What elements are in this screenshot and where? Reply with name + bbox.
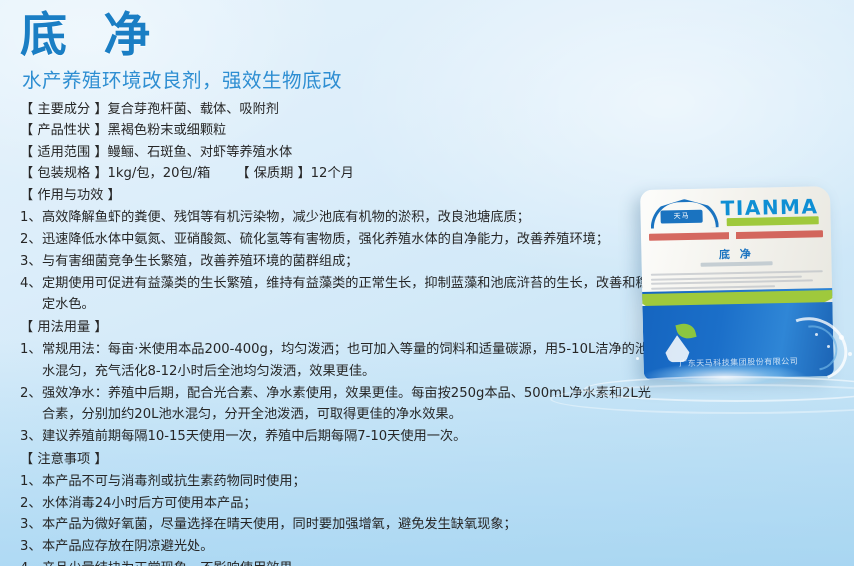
page-title: 底 净: [20, 12, 660, 60]
product-bag: 天马 TIANMA 底 净 广东天马科技集团股份有限公司: [640, 186, 834, 380]
item-number: 3、: [20, 426, 42, 448]
item-text: 常规用法：每亩·米使用本品200-400g，均匀泼洒；也可加入等量的饲料和适量碳…: [42, 342, 648, 379]
cautions-heading: 【 注意事项 】: [20, 449, 660, 470]
effects-heading: 【 作用与功效 】: [20, 185, 660, 206]
caution-item: 3、本产品为微好氧菌，尽量选择在晴天使用，同时要加强增氧，避免发生缺氧现象；: [20, 514, 660, 536]
item-text: 本产品应存放在阴凉避光处。: [42, 539, 213, 554]
item-number: 1、: [20, 471, 42, 493]
caution-item: 3、本产品应存放在阴凉避光处。: [20, 536, 660, 558]
item-number: 1、: [20, 339, 42, 361]
spec-value-shelf-life: 12个月: [311, 166, 354, 181]
spec-row: 【 适用范围 】鳗鲡、石斑鱼、对虾等养殖水体: [20, 142, 660, 163]
product-package-image: 天马 TIANMA 底 净 广东天马科技集团股份有限公司: [620, 188, 854, 428]
product-info-page: 底 净 水产养殖环境改良剂，强效生物底改 【 主要成分 】复合芽孢杆菌、载体、吸…: [0, 0, 854, 566]
usage-item: 2、强效净水：养殖中后期，配合光合素、净水素使用，效果更佳。每亩按250g本品、…: [20, 383, 660, 427]
effects-section: 【 作用与功效 】 1、高效降解鱼虾的粪便、残饵等有机污染物，减少池底有机物的淤…: [14, 185, 660, 316]
spec-label-shelf-life: 【 保质期 】: [236, 166, 310, 181]
effects-item: 1、高效降解鱼虾的粪便、残饵等有机污染物，减少池底有机物的淤积，改良池塘底质；: [20, 207, 660, 229]
item-text: 本产品不可与消毒剂或抗生素药物同时使用；: [42, 474, 306, 489]
spec-value: 鳗鲡、石斑鱼、对虾等养殖水体: [108, 145, 293, 160]
item-number: 3、: [20, 251, 42, 273]
usage-section: 【 用法用量 】 1、常规用法：每亩·米使用本品200-400g，均匀泼洒；也可…: [14, 317, 660, 448]
spec-label: 【 主要成分 】: [20, 102, 108, 117]
spec-value: 复合芽孢杆菌、载体、吸附剂: [108, 102, 279, 117]
spec-row: 【 主要成分 】复合芽孢杆菌、载体、吸附剂: [20, 99, 660, 120]
spec-label: 【 包装规格 】: [20, 166, 108, 181]
caution-item: 2、水体消毒24小时后方可使用本产品；: [20, 493, 660, 515]
item-text: 与有害细菌竞争生长繁殖，改善养殖环境的菌群组成；: [42, 254, 359, 269]
usage-heading: 【 用法用量 】: [20, 317, 660, 338]
spec-value: 1kg/包，20包/箱: [108, 166, 211, 181]
item-text: 迅速降低水体中氨氮、亚硝酸氮、硫化氢等有害物质，强化养殖水体的自净能力，改善养殖…: [42, 232, 609, 247]
item-text: 定期使用可促进有益藻类的生长繁殖，维持有益藻类的正常生长，抑制蓝藻和池底浒苔的生…: [42, 276, 649, 313]
brand-underline-decoration: [727, 216, 819, 226]
item-text: 强效净水：养殖中后期，配合光合素、净水素使用，效果更佳。每亩按250g本品、50…: [42, 386, 651, 423]
item-number: 4、: [20, 558, 42, 566]
effects-item: 3、与有害细菌竞争生长繁殖，改善养殖环境的菌群组成；: [20, 251, 660, 273]
page-subtitle: 水产养殖环境改良剂，强效生物底改: [22, 64, 660, 93]
item-number: 3、: [20, 514, 42, 536]
spec-label: 【 适用范围 】: [20, 145, 108, 160]
caution-item: 1、本产品不可与消毒剂或抗生素药物同时使用；: [20, 471, 660, 493]
item-number: 3、: [20, 536, 42, 558]
tianma-house-logo-icon: 天马: [650, 199, 713, 228]
item-text: 高效降解鱼虾的粪便、残饵等有机污染物，减少池底有机物的淤积，改良池塘底质；: [42, 210, 530, 225]
item-text: 本产品为微好氧菌，尽量选择在晴天使用，同时要加强增氧，避免发生缺氧现象；: [42, 517, 517, 532]
usage-item: 1、常规用法：每亩·米使用本品200-400g，均匀泼洒；也可加入等量的饲料和适…: [20, 339, 660, 383]
bag-logo-row: 天马 TIANMA: [650, 194, 823, 232]
usage-item: 3、建议养殖前期每隔10-15天使用一次，养殖中后期每隔7-10天使用一次。: [20, 426, 660, 448]
item-text: 水体消毒24小时后方可使用本产品；: [42, 496, 257, 511]
caution-item: 4、产品少量结块为正常现象，不影响使用效果。: [20, 558, 660, 566]
text-content-column: 底 净 水产养殖环境改良剂，强效生物底改 【 主要成分 】复合芽孢杆菌、载体、吸…: [0, 0, 660, 566]
spec-label: 【 产品性状 】: [20, 123, 108, 138]
spec-row: 【 包装规格 】1kg/包，20包/箱【 保质期 】12个月: [20, 163, 660, 184]
effects-item: 2、迅速降低水体中氨氮、亚硝酸氮、硫化氢等有害物质，强化养殖水体的自净能力，改善…: [20, 229, 660, 251]
item-number: 1、: [20, 207, 42, 229]
specifications-list: 【 主要成分 】复合芽孢杆菌、载体、吸附剂 【 产品性状 】黑褐色粉末或细颗粒 …: [14, 99, 660, 185]
cautions-section: 【 注意事项 】 1、本产品不可与消毒剂或抗生素药物同时使用； 2、水体消毒24…: [14, 449, 660, 566]
spec-row: 【 产品性状 】黑褐色粉末或细颗粒: [20, 120, 660, 141]
item-number: 2、: [20, 493, 42, 515]
spec-value: 黑褐色粉末或细颗粒: [108, 123, 227, 138]
item-text: 建议养殖前期每隔10-15天使用一次，养殖中后期每隔7-10天使用一次。: [42, 429, 466, 444]
logo-badge-label: 天马: [660, 210, 702, 224]
item-number: 4、: [20, 273, 42, 295]
item-number: 2、: [20, 383, 42, 405]
item-text: 产品少量结块为正常现象，不影响使用效果。: [42, 561, 306, 566]
item-number: 2、: [20, 229, 42, 251]
effects-item: 4、定期使用可促进有益藻类的生长繁殖，维持有益藻类的正常生长，抑制蓝藻和池底浒苔…: [20, 273, 660, 317]
